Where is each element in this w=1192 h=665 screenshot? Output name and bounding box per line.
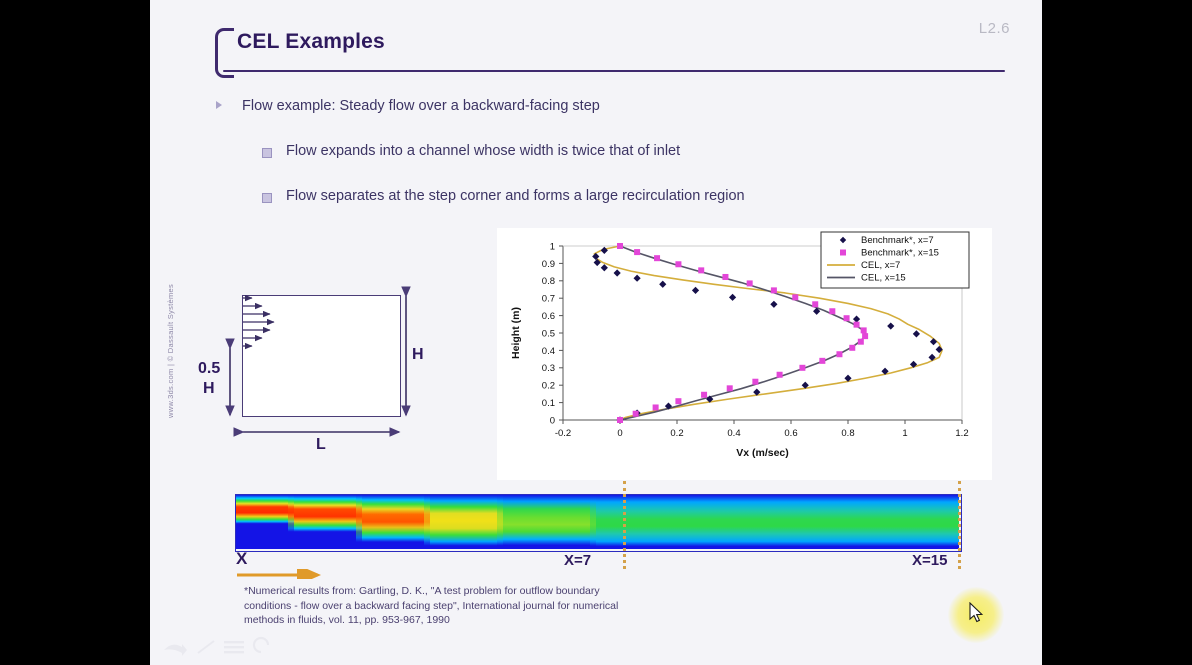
chart-canvas: 00.10.20.30.40.50.60.70.80.91-0.200.20.4… [497, 228, 992, 480]
svg-text:0.4: 0.4 [542, 346, 555, 357]
svg-text:0.5: 0.5 [542, 328, 555, 339]
label-L: L [316, 436, 326, 454]
geometry-annotations [190, 280, 480, 455]
svg-text:Benchmark*, x=7: Benchmark*, x=7 [861, 235, 934, 246]
pen-icon[interactable] [198, 641, 214, 653]
back-icon[interactable] [164, 644, 187, 656]
x-direction-arrow [236, 569, 324, 579]
label-half-H-top: 0.5 [198, 360, 220, 378]
svg-text:CEL, x=7: CEL, x=7 [861, 260, 900, 271]
svg-text:0.8: 0.8 [542, 276, 555, 287]
bullet-level2-b-label: Flow separates at the step corner and fo… [286, 188, 745, 204]
screen: L2.6 CEL Examples Flow example: Steady f… [0, 0, 1192, 665]
svg-text:1.2: 1.2 [955, 428, 968, 439]
svg-text:-0.2: -0.2 [555, 428, 571, 439]
x7-label: X=7 [564, 552, 591, 569]
svg-text:0.3: 0.3 [542, 363, 555, 374]
title-underline [223, 70, 1005, 72]
square-bullet-icon [262, 193, 272, 203]
svg-text:0: 0 [550, 415, 555, 426]
triangle-bullet-icon [216, 101, 222, 109]
presentation-slide: L2.6 CEL Examples Flow example: Steady f… [150, 0, 1042, 665]
svg-text:0.8: 0.8 [841, 428, 854, 439]
svg-text:0.2: 0.2 [670, 428, 683, 439]
label-H: H [412, 346, 424, 364]
slide-title-block: CEL Examples [215, 26, 1005, 74]
refresh-icon[interactable] [254, 638, 268, 652]
x-axis-label: X [236, 549, 247, 569]
mouse-cursor-icon [969, 602, 985, 624]
svg-text:Vx (m/sec): Vx (m/sec) [736, 447, 789, 459]
svg-text:CEL, x=15: CEL, x=15 [861, 273, 906, 284]
svg-text:0.1: 0.1 [542, 398, 555, 409]
svg-text:1: 1 [550, 241, 555, 252]
player-toolbar[interactable] [158, 636, 288, 660]
svg-text:0.6: 0.6 [542, 311, 555, 322]
svg-text:Benchmark*, x=15: Benchmark*, x=15 [861, 248, 939, 259]
svg-text:0.9: 0.9 [542, 259, 555, 270]
inlet-velocity-arrows [243, 298, 274, 346]
svg-text:1: 1 [902, 428, 907, 439]
x15-label: X=15 [912, 552, 947, 569]
page-title: CEL Examples [237, 30, 385, 54]
svg-text:0.2: 0.2 [542, 381, 555, 392]
velocity-profile-chart: 00.10.20.30.40.50.60.70.80.91-0.200.20.4… [497, 228, 992, 480]
svg-text:0.4: 0.4 [727, 428, 740, 439]
svg-text:0: 0 [617, 428, 622, 439]
geometry-diagram: H 0.5 H L [190, 280, 480, 455]
label-half-H-bottom: H [203, 380, 215, 398]
menu-icon[interactable] [224, 641, 244, 653]
svg-text:0.6: 0.6 [784, 428, 797, 439]
svg-text:Height (m): Height (m) [510, 307, 522, 359]
bullet-level1-label: Flow example: Steady flow over a backwar… [242, 98, 600, 114]
svg-text:0.7: 0.7 [542, 294, 555, 305]
x7-marker-line [623, 481, 629, 569]
contour-field [236, 495, 959, 549]
bullet-level2-a-label: Flow expands into a channel whose width … [286, 143, 680, 159]
footnote-citation: *Numerical results from: Gartling, D. K.… [244, 584, 644, 628]
velocity-contour-plot [235, 494, 962, 552]
x15-marker-line [958, 481, 964, 569]
square-bullet-icon [262, 148, 272, 158]
